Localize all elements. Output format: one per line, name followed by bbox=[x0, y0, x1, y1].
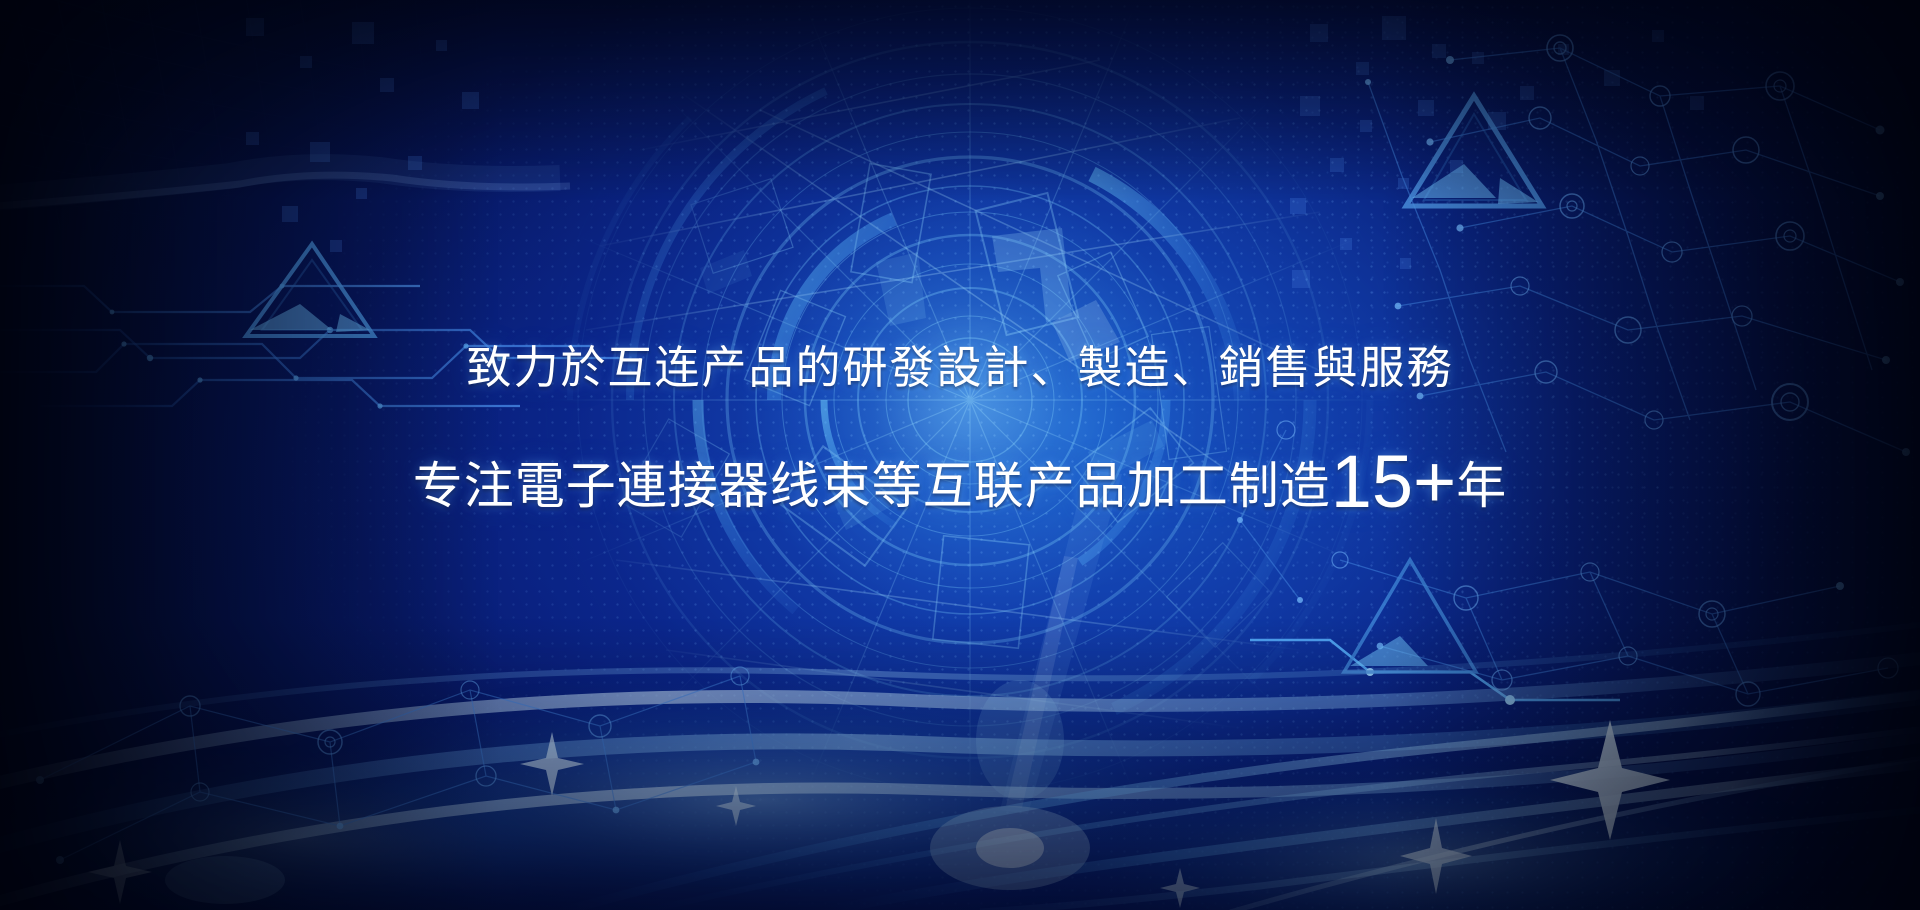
headline-line-2-prefix: 专注電子連接器线束等互联产品加工制造 bbox=[413, 458, 1331, 514]
headline-block: 致力於互连产品的研發設計、製造、銷售與服務 专注電子連接器线束等互联产品加工制造… bbox=[0, 340, 1920, 527]
headline-years-number: 15+ bbox=[1331, 440, 1457, 523]
headline-line-1: 致力於互连产品的研發設計、製造、銷售與服務 bbox=[0, 340, 1920, 396]
tech-banner: 致力於互连产品的研發設計、製造、銷售與服務 专注電子連接器线束等互联产品加工制造… bbox=[0, 0, 1920, 910]
headline-line-2: 专注電子連接器线束等互联产品加工制造15+年 bbox=[0, 438, 1920, 527]
headline-years-unit: 年 bbox=[1456, 458, 1507, 514]
